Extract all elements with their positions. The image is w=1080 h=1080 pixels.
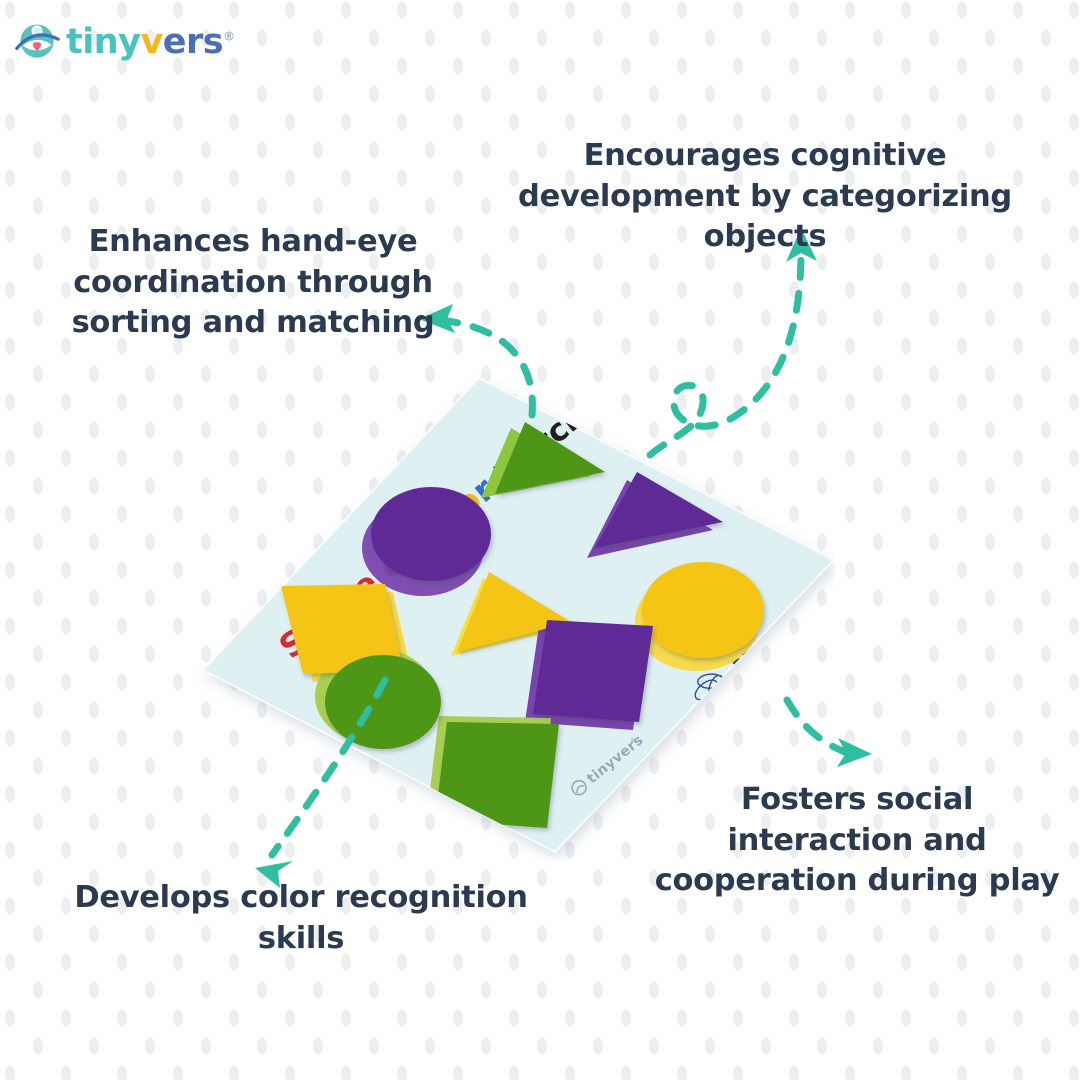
wordmark-v: v xyxy=(140,22,162,62)
piece-circle-purple[interactable] xyxy=(371,487,491,581)
piece-circle-green[interactable] xyxy=(325,655,441,749)
benefit-text-hand-eye: Enhances hand-eye coordination through s… xyxy=(8,222,498,344)
piece-square-purple[interactable] xyxy=(533,620,653,722)
benefit-text-cognitive: Encourages cognitive development by cate… xyxy=(470,136,1060,258)
registered-trademark-icon: ® xyxy=(223,29,235,43)
brand-logo[interactable]: tinyvers® xyxy=(14,14,244,70)
wordmark-tiny: tiny xyxy=(66,22,140,62)
piece-square-green[interactable] xyxy=(435,722,559,828)
tinyvers-globe-baby-heart-icon xyxy=(14,19,60,65)
wordmark-ers: ers xyxy=(163,22,223,62)
piece-circle-yellow[interactable] xyxy=(642,562,764,658)
benefit-text-color-recognition: Develops color recognition skills xyxy=(62,878,540,959)
brand-wordmark: tinyvers® xyxy=(66,25,235,60)
benefit-text-social: Fosters social interaction and cooperati… xyxy=(648,780,1066,902)
